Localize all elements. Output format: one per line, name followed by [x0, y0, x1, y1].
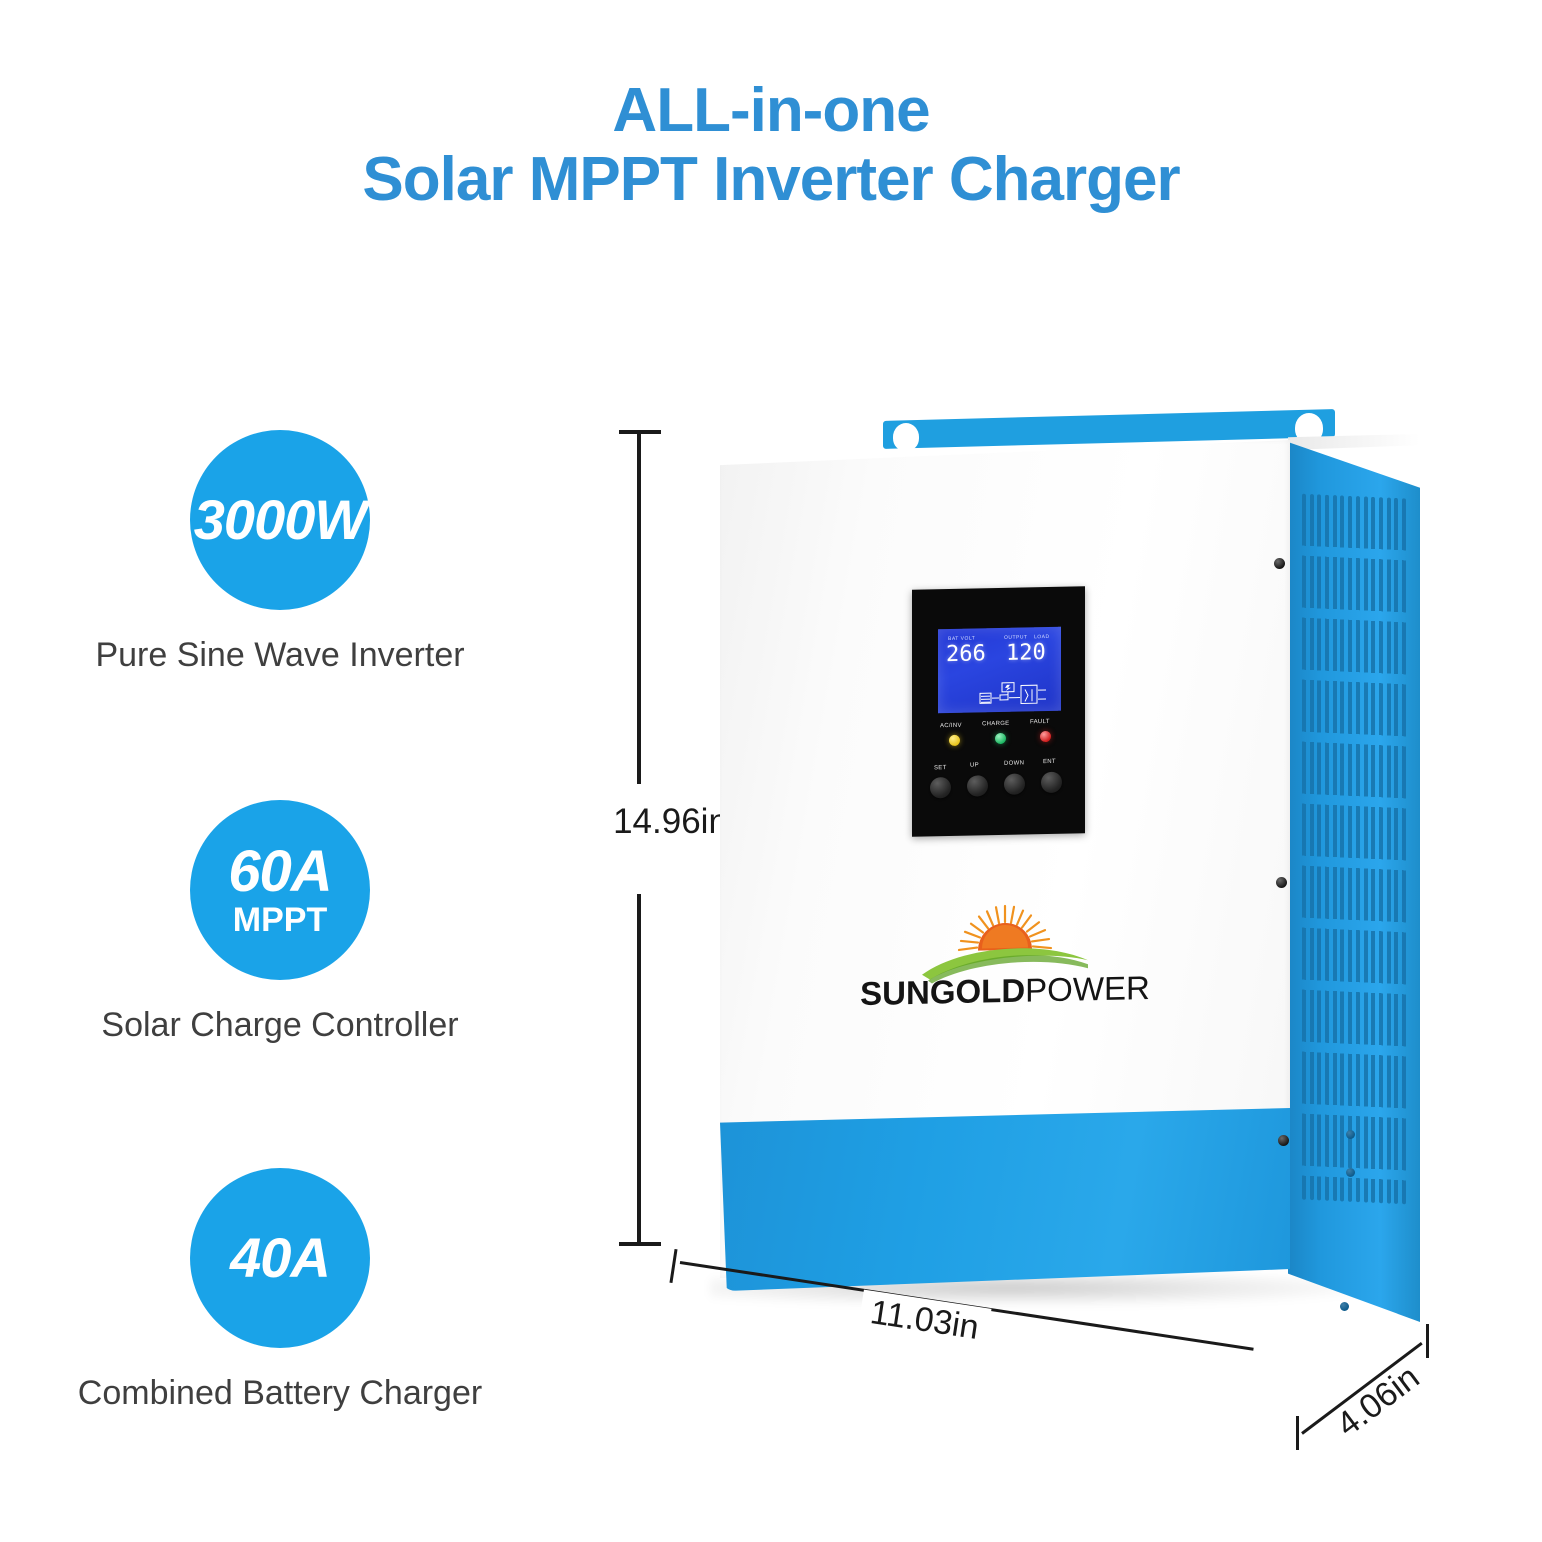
up-button[interactable]	[967, 775, 988, 796]
brand-logo: SUNGOLDPOWER	[860, 897, 1150, 1043]
vent-slot	[1364, 496, 1368, 1202]
logo-wordmark: SUNGOLDPOWER	[860, 971, 1150, 1010]
button-label-down: DOWN	[1004, 760, 1024, 766]
led-indicator-ac-inv	[949, 735, 960, 746]
feature-badge-subvalue: MPPT	[233, 903, 327, 937]
dimension-depth-cap-right	[1426, 1324, 1429, 1358]
bracket-keyhole-left-icon	[893, 423, 919, 451]
lcd-flow-diagram-icon	[978, 679, 1056, 709]
feature-label: Combined Battery Charger	[20, 1374, 540, 1413]
led-indicator-charge	[995, 733, 1006, 744]
screw-icon	[1346, 1130, 1355, 1139]
led-label-charge: CHARGE	[982, 721, 1009, 728]
feature-badge-circle: 3000W	[190, 430, 370, 610]
screw-icon	[1276, 877, 1287, 888]
dimension-width: 11.03in	[660, 1245, 1280, 1415]
vent-slot	[1317, 494, 1321, 1200]
product-image: BAT VOLT OUTPUT LOAD 266 120	[640, 390, 1440, 1380]
vent-slot	[1402, 498, 1406, 1204]
set-button[interactable]	[930, 777, 951, 798]
vent-slot	[1325, 495, 1329, 1201]
vent-slot	[1340, 495, 1344, 1201]
page-header: ALL-in-one Solar MPPT Inverter Charger	[0, 78, 1542, 216]
page-title-line-1: ALL-in-one	[0, 78, 1542, 143]
feature-item-charge-controller: 60A MPPT Solar Charge Controller	[20, 800, 540, 1045]
ventilation-slots	[1302, 494, 1406, 1205]
control-panel: BAT VOLT OUTPUT LOAD 266 120	[912, 586, 1085, 837]
led-label-fault: FAULT	[1030, 719, 1050, 725]
vent-slot	[1387, 497, 1391, 1203]
dimension-width-label: 11.03in	[858, 1290, 992, 1352]
screw-icon	[1346, 1168, 1355, 1177]
led-indicator-fault	[1040, 731, 1051, 742]
screw-icon	[1278, 1135, 1289, 1146]
vent-slot	[1333, 495, 1337, 1201]
feature-label: Pure Sine Wave Inverter	[20, 636, 540, 675]
vent-slot	[1302, 494, 1306, 1200]
vent-slot	[1348, 496, 1352, 1202]
logo-text-power: POWER	[1025, 969, 1150, 1009]
feature-badge-value: 40A	[230, 1230, 330, 1286]
ent-button[interactable]	[1041, 772, 1062, 793]
led-label-ac-inv: AC/INV	[940, 723, 962, 729]
vent-slot	[1394, 498, 1398, 1204]
dimension-depth-label: 4.06in	[1330, 1358, 1427, 1445]
lcd-value-right: 120	[1006, 642, 1046, 665]
page-title-line-2: Solar MPPT Inverter Charger	[0, 143, 1542, 216]
screw-icon	[1340, 1302, 1349, 1311]
feature-badge-value: 3000W	[194, 492, 366, 548]
lcd-value-left: 266	[946, 643, 986, 666]
dimension-depth: 4.06in	[1290, 1320, 1500, 1480]
button-label-set: SET	[934, 765, 947, 771]
feature-item-battery-charger: 40A Combined Battery Charger	[20, 1168, 540, 1413]
dimension-depth-cap-left	[1296, 1416, 1299, 1450]
button-label-ent: ENT	[1043, 759, 1056, 765]
logo-text-sungold: SUNGOLD	[860, 972, 1025, 1012]
feature-badge-circle: 60A MPPT	[190, 800, 370, 980]
vent-slot	[1371, 497, 1375, 1203]
screw-icon	[1274, 558, 1285, 569]
button-label-up: UP	[970, 762, 979, 768]
feature-badge-circle: 40A	[190, 1168, 370, 1348]
vent-slot	[1379, 497, 1383, 1203]
feature-label: Solar Charge Controller	[20, 1006, 540, 1045]
feature-item-inverter: 3000W Pure Sine Wave Inverter	[20, 430, 540, 675]
dimension-width-cap-left	[669, 1249, 677, 1283]
feature-badge-value: 60A	[228, 843, 331, 901]
down-button[interactable]	[1004, 773, 1025, 794]
vent-slot	[1356, 496, 1360, 1202]
lcd-display: BAT VOLT OUTPUT LOAD 266 120	[938, 627, 1061, 714]
vent-slot	[1310, 494, 1314, 1200]
